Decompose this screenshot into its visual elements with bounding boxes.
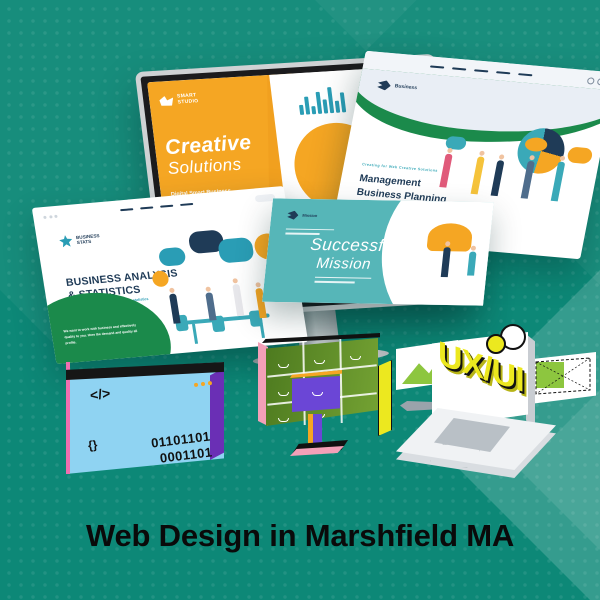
monitor-logo-label: SMARTSTUDIO [177, 93, 199, 106]
arrow-icon [377, 80, 392, 91]
bar-chart-decoration [297, 86, 346, 115]
card-logo: BUSINESSSTATS [58, 232, 100, 247]
speech-bubble [566, 146, 593, 164]
card-logo-label: Business [394, 83, 417, 91]
code-brace-glyph: {} [87, 437, 98, 452]
person-figure [205, 292, 216, 320]
star-icon [58, 235, 73, 248]
page-title: Web Design in Marshfield MA [0, 518, 600, 554]
window-dots [43, 214, 57, 218]
poster-canvas: SMARTSTUDIO Creative Solutions Digital S… [0, 0, 600, 600]
wireframe-icon [534, 356, 592, 400]
decor-lines [314, 277, 371, 287]
person-figure [467, 252, 477, 276]
card-eyebrow: Creating for Web Creative Solutions [362, 162, 438, 173]
monitor-logo: SMARTSTUDIO [159, 89, 263, 107]
person-figure [471, 156, 485, 194]
uxui-laptop-illustration: UX/UI [382, 322, 582, 498]
spark-icon [159, 96, 174, 107]
speech-bubble [158, 247, 187, 267]
successful-mission-card: Mission Successful Mission [262, 198, 494, 305]
mission-illustration [394, 217, 488, 296]
lightbulb-icon [151, 270, 169, 287]
arrow-icon [287, 211, 299, 220]
person-figure [439, 154, 452, 188]
mission-title-line1: Successful [309, 235, 399, 256]
person-figure [232, 284, 244, 316]
code-window-side-panel [210, 368, 224, 460]
person-figure [491, 160, 505, 196]
ruler-icon [378, 360, 392, 436]
speech-bubble [217, 237, 255, 264]
cabinet-stand-accent [308, 414, 313, 444]
filing-cabinet-illustration [250, 330, 400, 480]
code-window-illustration: </> {} 01101101 0001101 [66, 362, 224, 474]
person-figure [169, 294, 181, 324]
card-logo-label: Mission [302, 213, 317, 218]
binary-text: 01101101 0001101 [151, 428, 214, 468]
card-logo-label: BUSINESSSTATS [76, 233, 101, 246]
card-logo: Mission [287, 211, 318, 220]
person-figure [441, 247, 451, 277]
nav-icons [587, 77, 600, 85]
mission-title-line2: Mission [316, 255, 372, 273]
code-tag-glyph: </> [89, 385, 111, 403]
